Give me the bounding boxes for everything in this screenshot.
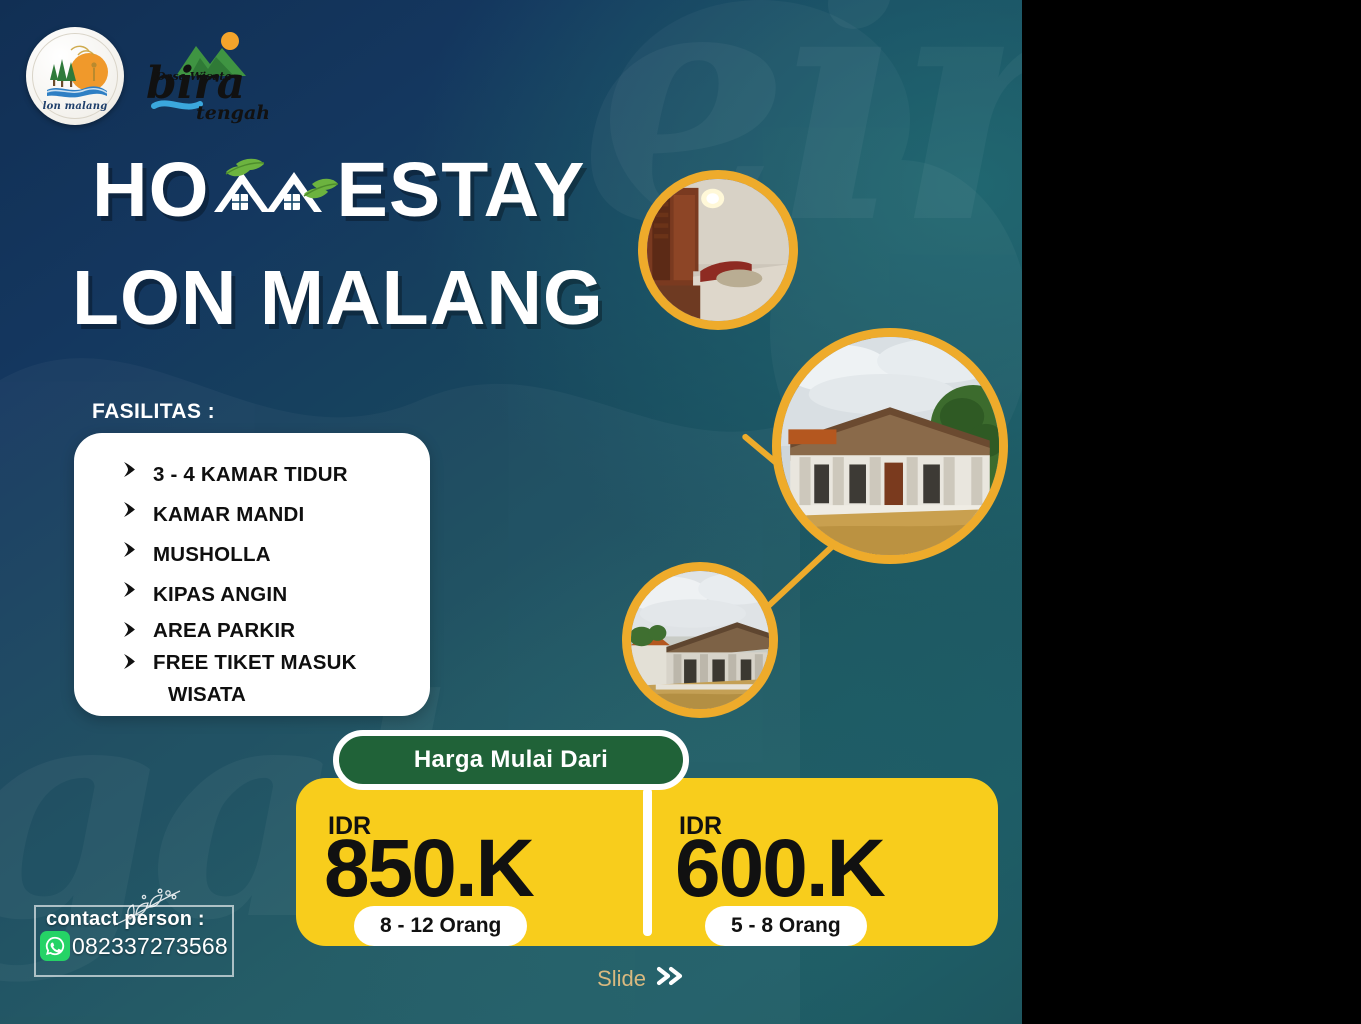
facilities-label: FASILITAS : bbox=[92, 400, 215, 424]
price-badge: Harga Mulai Dari bbox=[333, 730, 689, 790]
tengah-word: tengah bbox=[196, 102, 268, 124]
price-amount: 850.K bbox=[324, 828, 533, 910]
facility-item: FREE TIKET MASUK bbox=[122, 647, 412, 679]
arrow-bullet-icon bbox=[122, 653, 137, 675]
bira-tengah-logo: bira Desa Wisata tengah bbox=[138, 24, 268, 128]
bira-tengah-logo-art: bira Desa Wisata tengah bbox=[138, 24, 268, 128]
price-capacity-pill: 8 - 12 Orang bbox=[354, 906, 527, 946]
facility-continuation: WISATA bbox=[168, 678, 412, 713]
facility-item: KIPAS ANGIN bbox=[122, 575, 412, 615]
slide-label: Slide bbox=[597, 966, 646, 992]
facility-item: KAMAR MANDI bbox=[122, 495, 412, 535]
price-capacity-text: 5 - 8 Orang bbox=[731, 914, 841, 938]
arrow-bullet-icon bbox=[122, 581, 137, 603]
facility-text: 3 - 4 KAMAR TIDUR bbox=[153, 455, 348, 495]
facilities-card: 3 - 4 KAMAR TIDUR KAMAR MANDI MUSHOLLA K… bbox=[74, 433, 430, 716]
arrow-bullet-icon bbox=[122, 541, 137, 563]
price-divider bbox=[643, 788, 652, 936]
facility-text: KIPAS ANGIN bbox=[153, 575, 287, 615]
contact-phone[interactable]: 082337273568 bbox=[72, 933, 228, 960]
facility-item: 3 - 4 KAMAR TIDUR bbox=[122, 455, 412, 495]
logo-row: lon malang bira Desa Wisata tengah bbox=[26, 24, 268, 128]
right-black-padding bbox=[1022, 0, 1361, 1024]
slide-indicator[interactable]: Slide bbox=[597, 965, 685, 992]
photo-building[interactable] bbox=[772, 328, 1008, 564]
facility-text: FREE TIKET MASUK bbox=[153, 647, 357, 679]
arrow-bullet-icon bbox=[122, 461, 137, 483]
price-option-a: IDR 850.K 8 - 12 Orang bbox=[296, 778, 647, 946]
lon-malang-logo: lon malang bbox=[26, 27, 124, 125]
facility-text: KAMAR MANDI bbox=[153, 495, 304, 535]
price-capacity-pill: 5 - 8 Orang bbox=[705, 906, 867, 946]
price-option-b: IDR 600.K 5 - 8 Orang bbox=[647, 778, 998, 946]
arrow-bullet-icon bbox=[122, 621, 137, 643]
photo-courtyard[interactable] bbox=[622, 562, 778, 718]
double-chevron-right-icon[interactable] bbox=[655, 965, 685, 992]
headline-estay: ESTAY bbox=[337, 152, 586, 229]
headline-ho: HO bbox=[92, 152, 210, 229]
whatsapp-icon[interactable] bbox=[40, 931, 70, 961]
photo-cluster bbox=[600, 170, 1022, 720]
price-amount: 600.K bbox=[675, 828, 884, 910]
price-card: IDR 850.K 8 - 12 Orang IDR 600.K 5 - 8 O… bbox=[296, 778, 998, 946]
price-badge-label: Harga Mulai Dari bbox=[414, 746, 608, 774]
arrow-bullet-icon bbox=[122, 501, 137, 523]
facility-text: AREA PARKIR bbox=[153, 615, 295, 647]
contact-row[interactable]: 082337273568 bbox=[40, 931, 228, 961]
house-roof-leaves-icon bbox=[206, 150, 341, 230]
price-capacity-text: 8 - 12 Orang bbox=[380, 914, 501, 938]
facility-text: MUSHOLLA bbox=[153, 535, 271, 575]
facility-item: AREA PARKIR bbox=[122, 615, 412, 647]
poster-canvas: eira gah bbox=[0, 0, 1022, 1024]
contact-title: contact person : bbox=[46, 908, 205, 931]
photo-bedroom[interactable] bbox=[638, 170, 798, 330]
facility-item: MUSHOLLA bbox=[122, 535, 412, 575]
lon-malang-logo-caption: lon malang bbox=[26, 101, 124, 112]
desa-wisata-word: Desa Wisata bbox=[155, 70, 232, 83]
